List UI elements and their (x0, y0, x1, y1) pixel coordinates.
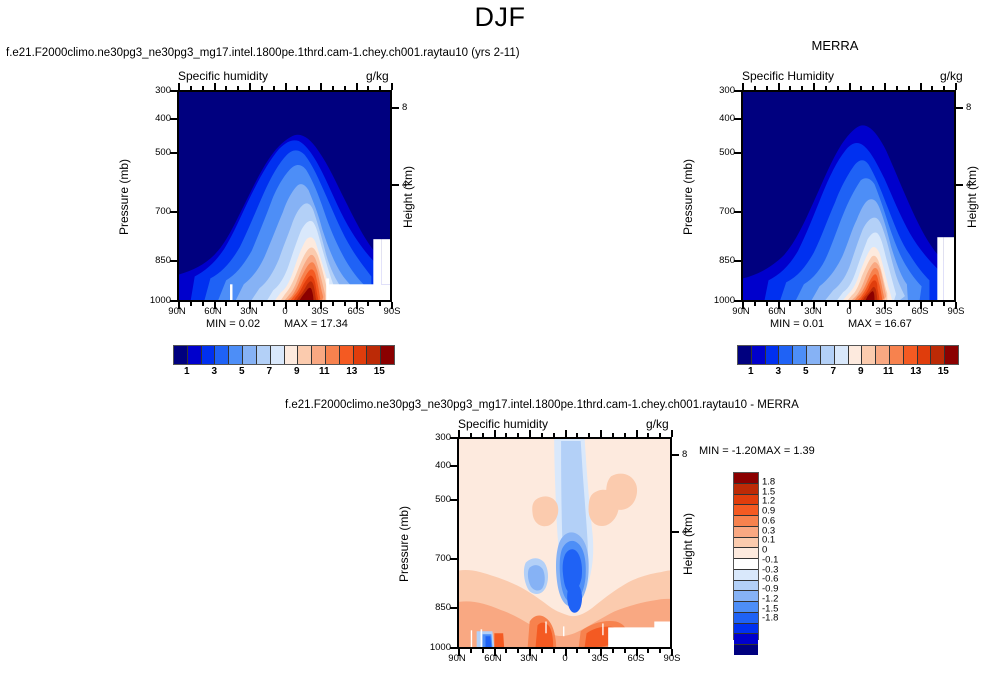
diff-xtick-90N: 90N (440, 653, 474, 664)
axis-tick-mark (671, 649, 673, 656)
axis-tick-mark (778, 302, 780, 309)
colorbar-cell (734, 538, 758, 549)
axis-tick-mark (766, 302, 768, 306)
axis-tick-mark (789, 86, 791, 90)
axis-tick-mark (931, 86, 933, 90)
axis-tick-mark (505, 649, 507, 653)
colorbar-cell (734, 548, 758, 559)
axis-tick-mark (849, 83, 851, 90)
axis-tick-mark (825, 302, 827, 306)
test-ytick-mark (170, 90, 177, 92)
axis-tick-mark (612, 649, 614, 653)
colorbar-cell (734, 581, 758, 592)
axis-tick-mark (872, 302, 874, 306)
colorbar-tick-label: 1 (748, 366, 754, 377)
colorbar-cell (734, 570, 758, 581)
colorbar-cell (862, 346, 876, 364)
diff-y2tick-mark (672, 454, 679, 456)
obs-ytick-mark (734, 211, 741, 213)
axis-tick-mark (296, 302, 298, 306)
axis-tick-mark (517, 649, 519, 653)
axis-tick-mark (565, 430, 567, 437)
obs-ytick-700: 700 (707, 206, 735, 217)
test-max-label: MAX = 17.34 (284, 318, 348, 330)
colorbar-tick-label: 3 (775, 366, 781, 377)
axis-tick-mark (237, 302, 239, 306)
colorbar-cell (734, 602, 758, 613)
diff-ytick-mark (450, 437, 457, 439)
axis-tick-mark (588, 433, 590, 437)
axis-tick-mark (813, 83, 815, 90)
axis-tick-mark (576, 649, 578, 653)
axis-tick-mark (789, 302, 791, 306)
diff-ytick-mark (450, 499, 457, 501)
diff-ytick-mark (450, 647, 457, 649)
obs-ytick-300: 300 (707, 85, 735, 96)
axis-tick-mark (647, 649, 649, 653)
axis-tick-mark (202, 86, 204, 90)
axis-tick-mark (320, 83, 322, 90)
colorbar-tick-label: 13 (346, 366, 357, 377)
axis-tick-mark (482, 649, 484, 653)
axis-tick-mark (202, 302, 204, 306)
colorbar-tick-label: 7 (830, 366, 836, 377)
diff-ytick-300: 300 (423, 432, 451, 443)
diff-ytick-mark (450, 607, 457, 609)
diff-ytick-mark (450, 465, 457, 467)
colorbar-cell (243, 346, 257, 364)
axis-tick-mark (379, 302, 381, 306)
axis-tick-mark (659, 649, 661, 653)
axis-tick-mark (565, 649, 567, 656)
colorbar-cell (876, 346, 890, 364)
diff-max-label: MAX = 1.39 (757, 445, 815, 457)
axis-tick-mark (178, 83, 180, 90)
axis-tick-mark (553, 649, 555, 653)
axis-tick-mark (308, 86, 310, 90)
axis-tick-mark (860, 302, 862, 306)
obs-ytick-1000: 1000 (707, 295, 735, 306)
colorbar-cell (229, 346, 243, 364)
axis-tick-mark (356, 83, 358, 90)
obs-contour-plot[interactable] (741, 90, 956, 302)
axis-tick-mark (249, 83, 251, 90)
colorbar-tick-label: 5 (239, 366, 245, 377)
colorbar-cell (734, 624, 758, 635)
colorbar-cell (734, 613, 758, 624)
colorbar-cell (734, 473, 758, 484)
axis-tick-mark (801, 302, 803, 306)
axis-tick-mark (225, 302, 227, 306)
test-ytick-mark (170, 260, 177, 262)
axis-tick-mark (190, 302, 192, 306)
axis-tick-mark (742, 83, 744, 90)
axis-tick-mark (754, 302, 756, 306)
axis-tick-mark (825, 86, 827, 90)
axis-tick-mark (332, 86, 334, 90)
axis-tick-mark (285, 302, 287, 309)
colorbar-cell (734, 645, 758, 655)
colorbar-cell (734, 505, 758, 516)
obs-panel-title: MERRA (740, 38, 930, 53)
axis-tick-mark (920, 83, 922, 90)
test-colorbar[interactable] (173, 345, 395, 365)
axis-tick-mark (237, 86, 239, 90)
axis-tick-mark (955, 83, 957, 90)
axis-tick-mark (624, 649, 626, 653)
axis-tick-mark (344, 86, 346, 90)
axis-tick-mark (908, 302, 910, 306)
axis-tick-mark (849, 302, 851, 309)
colorbar-cell (945, 346, 958, 364)
colorbar-tick-label: 15 (938, 366, 949, 377)
colorbar-cell (188, 346, 202, 364)
test-ytick-mark (170, 152, 177, 154)
obs-ytick-500: 500 (707, 147, 735, 158)
axis-tick-mark (225, 86, 227, 90)
colorbar-cell (734, 591, 758, 602)
colorbar-cell (734, 484, 758, 495)
axis-tick-mark (955, 302, 957, 309)
obs-y-axis-label: Pressure (mb) (681, 137, 695, 257)
diff-ytick-500: 500 (423, 494, 451, 505)
axis-tick-mark (541, 649, 543, 653)
obs-xtick-90N: 90N (724, 306, 758, 317)
axis-tick-mark (308, 302, 310, 306)
colorbar-cell (381, 346, 394, 364)
obs-y2tick-mark (956, 184, 963, 186)
diff-ytick-mark (450, 558, 457, 560)
test-ytick-400: 400 (143, 113, 171, 124)
obs-ytick-mark (734, 118, 741, 120)
axis-tick-mark (896, 302, 898, 306)
axis-tick-mark (931, 302, 933, 306)
colorbar-cell (734, 516, 758, 527)
colorbar-cell (271, 346, 285, 364)
axis-tick-mark (908, 86, 910, 90)
diff-y2tick-8: 8 (682, 449, 687, 460)
axis-tick-mark (379, 86, 381, 90)
axis-tick-mark (391, 302, 393, 309)
test-ytick-1000: 1000 (143, 295, 171, 306)
axis-tick-mark (249, 302, 251, 309)
obs-ytick-mark (734, 260, 741, 262)
colorbar-cell (793, 346, 807, 364)
axis-tick-mark (813, 302, 815, 309)
axis-tick-mark (458, 649, 460, 656)
season-title: DJF (0, 2, 1000, 33)
axis-tick-mark (470, 433, 472, 437)
test-colorbar-labels: 13579111315 (173, 366, 393, 380)
obs-y2tick-mark (956, 107, 963, 109)
colorbar-tick-label: 9 (858, 366, 864, 377)
colorbar-tick-label: 13 (910, 366, 921, 377)
test-ytick-mark (170, 211, 177, 213)
colorbar-cell (298, 346, 312, 364)
axis-tick-mark (470, 649, 472, 653)
diff-y2tick-mark (672, 531, 679, 533)
obs-ytick-mark (734, 90, 741, 92)
diff-y2-axis-label: Height (km) (681, 484, 695, 604)
axis-tick-mark (529, 430, 531, 437)
axis-tick-mark (458, 430, 460, 437)
test-min-label: MIN = 0.02 (206, 318, 260, 330)
obs-y2-axis-label: Height (km) (965, 137, 979, 257)
test-contour-canvas (179, 92, 390, 300)
colorbar-cell (890, 346, 904, 364)
axis-tick-mark (356, 302, 358, 309)
axis-tick-mark (884, 83, 886, 90)
axis-tick-mark (896, 86, 898, 90)
axis-tick-mark (273, 86, 275, 90)
colorbar-tick-label: 3 (211, 366, 217, 377)
axis-tick-mark (367, 86, 369, 90)
axis-tick-mark (588, 649, 590, 653)
axis-tick-mark (872, 86, 874, 90)
test-ytick-300: 300 (143, 85, 171, 96)
colorbar-cell (738, 346, 752, 364)
axis-tick-mark (860, 86, 862, 90)
colorbar-tick-label: 11 (319, 366, 330, 377)
obs-ytick-mark (734, 152, 741, 154)
test-xtick-90N: 90N (160, 306, 194, 317)
axis-tick-mark (553, 433, 555, 437)
test-units-label: g/kg (366, 69, 389, 83)
axis-tick-mark (344, 302, 346, 306)
colorbar-tick-label: 9 (294, 366, 300, 377)
colorbar-cell (367, 346, 381, 364)
axis-tick-mark (920, 302, 922, 309)
colorbar-tick-label: 5 (803, 366, 809, 377)
diff-ytick-850: 850 (423, 602, 451, 613)
axis-tick-mark (659, 433, 661, 437)
axis-tick-mark (636, 430, 638, 437)
diff-colorbar-labels: 1.81.51.20.90.60.30.10-0.1-0.3-0.6-0.9-1… (762, 472, 802, 638)
colorbar-tick-label: 7 (266, 366, 272, 377)
obs-colorbar-labels: 13579111315 (737, 366, 957, 380)
axis-tick-mark (884, 302, 886, 309)
axis-tick-mark (837, 302, 839, 306)
colorbar-cell (766, 346, 780, 364)
axis-tick-mark (647, 433, 649, 437)
colorbar-cell (904, 346, 918, 364)
colorbar-tick-label: 15 (374, 366, 385, 377)
axis-tick-mark (261, 302, 263, 306)
obs-contour-canvas (743, 92, 954, 300)
axis-tick-mark (754, 86, 756, 90)
test-contour-plot[interactable] (177, 90, 392, 302)
axis-tick-mark (320, 302, 322, 309)
colorbar-cell (257, 346, 271, 364)
colorbar-cell (215, 346, 229, 364)
diff-ytick-700: 700 (423, 553, 451, 564)
diff-contour-canvas (459, 439, 670, 647)
axis-tick-mark (612, 433, 614, 437)
test-ytick-mark (170, 300, 177, 302)
axis-tick-mark (576, 433, 578, 437)
axis-tick-mark (505, 433, 507, 437)
test-ytick-500: 500 (143, 147, 171, 158)
obs-ytick-mark (734, 300, 741, 302)
test-ytick-700: 700 (143, 206, 171, 217)
colorbar-cell (326, 346, 340, 364)
test-case-title: f.e21.F2000climo.ne30pg3_ne30pg3_mg17.in… (6, 47, 520, 59)
colorbar-cell (849, 346, 863, 364)
axis-tick-mark (624, 433, 626, 437)
colorbar-tick-label: 1 (184, 366, 190, 377)
colorbar-cell (340, 346, 354, 364)
axis-tick-mark (261, 86, 263, 90)
colorbar-cell (752, 346, 766, 364)
axis-tick-mark (214, 302, 216, 309)
axis-tick-mark (742, 302, 744, 309)
diff-units-label: g/kg (646, 417, 669, 431)
axis-tick-mark (482, 433, 484, 437)
diff-contour-plot[interactable] (457, 437, 672, 649)
obs-ytick-850: 850 (707, 255, 735, 266)
axis-tick-mark (801, 86, 803, 90)
colorbar-tick-label: 11 (883, 366, 894, 377)
obs-ytick-400: 400 (707, 113, 735, 124)
axis-tick-mark (943, 86, 945, 90)
colorbar-cell (807, 346, 821, 364)
colorbar-cell (202, 346, 216, 364)
test-y2-axis-label: Height (km) (401, 137, 415, 257)
test-field-label: Specific humidity (178, 69, 268, 83)
colorbar-cell (174, 346, 188, 364)
diff-ytick-1000: 1000 (423, 642, 451, 653)
axis-tick-mark (494, 430, 496, 437)
colorbar-cell (285, 346, 299, 364)
axis-tick-mark (529, 649, 531, 656)
colorbar-cell (779, 346, 793, 364)
obs-y2tick-8: 8 (966, 102, 971, 113)
axis-tick-mark (766, 86, 768, 90)
axis-tick-mark (391, 83, 393, 90)
test-ytick-mark (170, 118, 177, 120)
test-y-axis-label: Pressure (mb) (117, 137, 131, 257)
diff-y-axis-label: Pressure (mb) (397, 484, 411, 604)
diff-ytick-400: 400 (423, 460, 451, 471)
colorbar-cell (918, 346, 932, 364)
axis-tick-mark (636, 649, 638, 656)
obs-colorbar[interactable] (737, 345, 959, 365)
obs-min-label: MIN = 0.01 (770, 318, 824, 330)
axis-tick-mark (367, 302, 369, 306)
diff-min-label: MIN = -1.20 (699, 445, 757, 457)
obs-field-label: Specific Humidity (742, 69, 834, 83)
diff-case-title: f.e21.F2000climo.ne30pg3_ne30pg3_mg17.in… (285, 399, 799, 411)
colorbar-cell (734, 634, 758, 645)
test-y2tick-mark (392, 184, 399, 186)
colorbar-cell (931, 346, 945, 364)
axis-tick-mark (332, 302, 334, 306)
axis-tick-mark (778, 83, 780, 90)
diff-colorbar[interactable] (733, 472, 759, 640)
test-ytick-850: 850 (143, 255, 171, 266)
test-y2tick-mark (392, 107, 399, 109)
axis-tick-mark (541, 433, 543, 437)
test-y2tick-8: 8 (402, 102, 407, 113)
colorbar-cell (734, 495, 758, 506)
colorbar-cell (821, 346, 835, 364)
axis-tick-mark (178, 302, 180, 309)
axis-tick-mark (943, 302, 945, 306)
axis-tick-mark (600, 649, 602, 656)
obs-max-label: MAX = 16.67 (848, 318, 912, 330)
colorbar-cell (734, 559, 758, 570)
colorbar-cell (835, 346, 849, 364)
axis-tick-mark (837, 86, 839, 90)
axis-tick-mark (273, 302, 275, 306)
axis-tick-mark (600, 430, 602, 437)
axis-tick-mark (671, 430, 673, 437)
colorbar-cell (734, 527, 758, 538)
colorbar-cell (312, 346, 326, 364)
axis-tick-mark (214, 83, 216, 90)
diff-field-label: Specific humidity (458, 417, 548, 431)
axis-tick-mark (494, 649, 496, 656)
colorbar-tick-label: -1.8 (762, 613, 778, 624)
colorbar-cell (354, 346, 368, 364)
axis-tick-mark (296, 86, 298, 90)
axis-tick-mark (190, 86, 192, 90)
axis-tick-mark (285, 83, 287, 90)
axis-tick-mark (517, 433, 519, 437)
obs-units-label: g/kg (940, 69, 963, 83)
